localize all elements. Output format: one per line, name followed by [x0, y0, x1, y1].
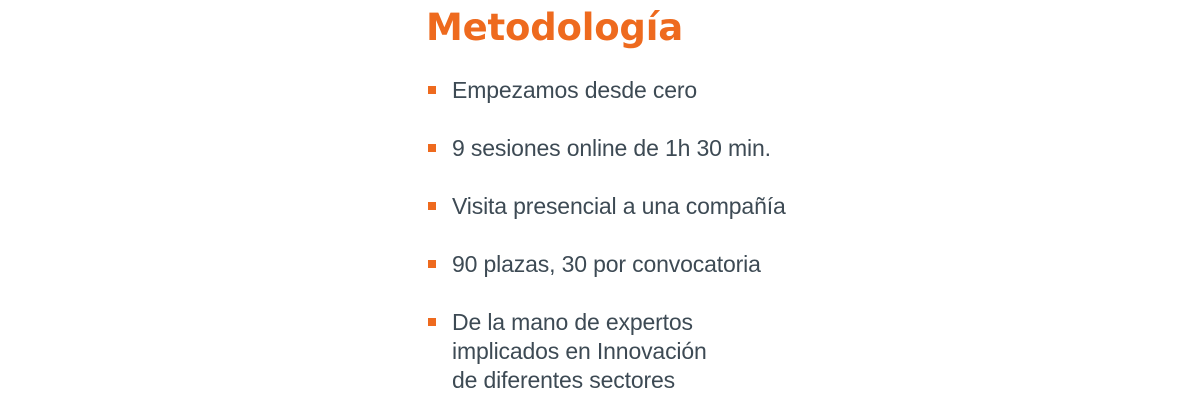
list-item-label: Empezamos desde cero	[452, 76, 1048, 105]
square-bullet-icon	[428, 318, 436, 326]
methodology-bullet-list: Empezamos desde cero 9 sesiones online d…	[428, 76, 1048, 395]
slide-canvas: Metodología Empezamos desde cero 9 sesio…	[0, 0, 1180, 400]
list-item-label: De la mano de expertos implicados en Inn…	[452, 308, 1048, 395]
list-item: De la mano de expertos implicados en Inn…	[428, 308, 1048, 395]
square-bullet-icon	[428, 86, 436, 94]
list-item: 90 plazas, 30 por convocatoria	[428, 250, 1048, 308]
list-item: 9 sesiones online de 1h 30 min.	[428, 134, 1048, 192]
list-item: Visita presencial a una compañía	[428, 192, 1048, 250]
square-bullet-icon	[428, 260, 436, 268]
square-bullet-icon	[428, 202, 436, 210]
content-block: Metodología Empezamos desde cero 9 sesio…	[426, 0, 1066, 50]
list-item-label: Visita presencial a una compañía	[452, 192, 1048, 221]
list-item-label: 90 plazas, 30 por convocatoria	[452, 250, 1048, 279]
page-title: Metodología	[426, 0, 1066, 50]
square-bullet-icon	[428, 144, 436, 152]
list-item-label: 9 sesiones online de 1h 30 min.	[452, 134, 1048, 163]
list-item: Empezamos desde cero	[428, 76, 1048, 134]
